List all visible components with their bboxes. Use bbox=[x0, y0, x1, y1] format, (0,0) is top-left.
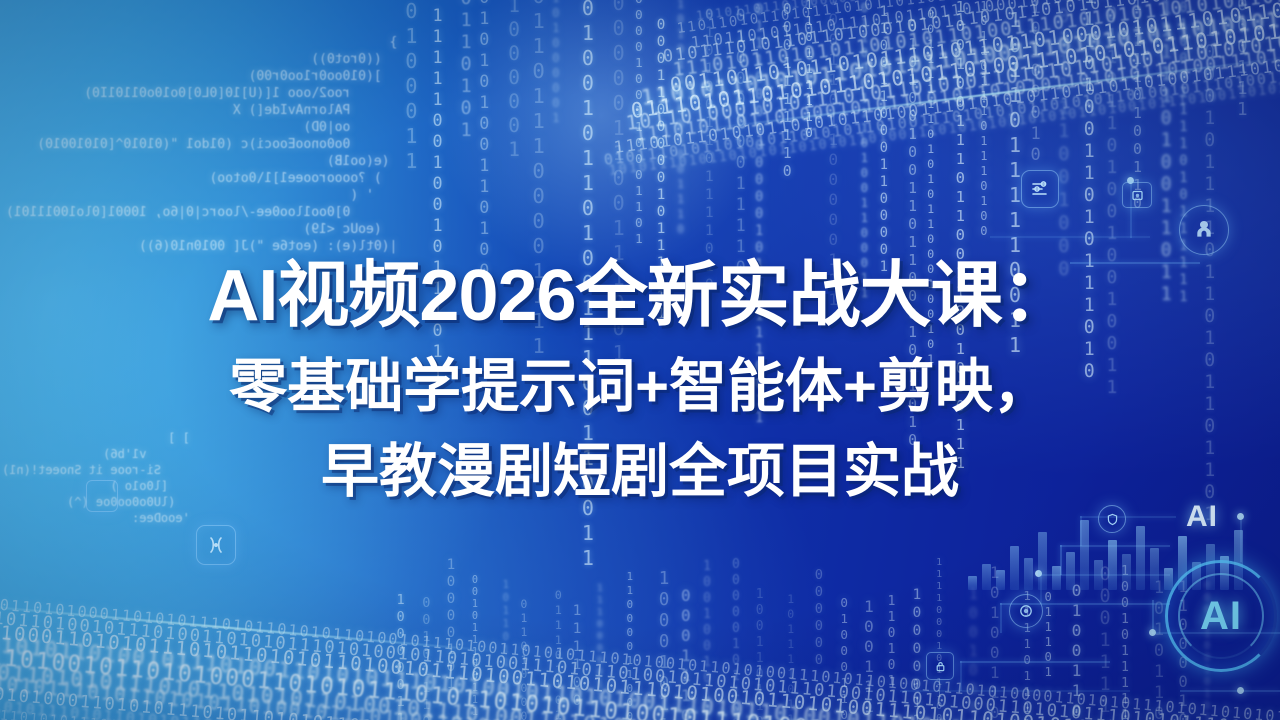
binary-rain-column: 0100011 bbox=[400, 0, 423, 174]
binary-rain-column: 01010100110100 bbox=[475, 0, 494, 281]
equalizer-bar bbox=[1094, 560, 1103, 590]
chip-icon bbox=[1122, 182, 1152, 208]
shield-node-icon bbox=[1098, 505, 1126, 533]
circuit-node bbox=[1149, 629, 1156, 636]
equalizer-bar bbox=[1108, 540, 1117, 590]
equalizer-bar bbox=[1066, 552, 1075, 590]
robot-assistant-icon bbox=[1179, 205, 1229, 255]
page-title: AI视频2026全新实战大课： bbox=[0, 253, 1280, 339]
equalizer-bar bbox=[1010, 546, 1019, 590]
equalizer-bar bbox=[1122, 554, 1131, 590]
circuit-trace bbox=[960, 661, 1110, 663]
equalizer-bar bbox=[1150, 548, 1159, 590]
network-node-icon bbox=[196, 525, 236, 565]
circuit-trace bbox=[960, 661, 962, 691]
poster-canvas: 0100011111110010010111011011010101010100… bbox=[0, 0, 1280, 720]
circuit-trace bbox=[1180, 690, 1280, 692]
circuit-node bbox=[1237, 687, 1244, 694]
circuit-trace bbox=[900, 690, 1130, 692]
equalizer-bar bbox=[982, 564, 991, 590]
circuit-trace bbox=[990, 236, 1150, 238]
equalizer-bar bbox=[1080, 520, 1089, 590]
equalizer-bar bbox=[996, 570, 1005, 590]
equalizer-bar bbox=[968, 576, 977, 590]
binary-rain-column: 0110101 bbox=[455, 0, 476, 142]
code-block-top-left: } ((0rot0)) ](010oo0r1oo0r00) roo2\ooo 1… bbox=[6, 34, 397, 255]
ai-ring-badge: AI bbox=[1165, 560, 1277, 672]
equalizer-bar bbox=[1136, 526, 1145, 590]
subtitle-line-2: 早教漫剧短剧全项目实战 bbox=[0, 437, 1280, 507]
equalizer-bar bbox=[1164, 568, 1173, 590]
ai-ring-label: AI bbox=[1200, 594, 1242, 639]
subtitle-line-1: 零基础学提示词+智能体+剪映， bbox=[0, 352, 1280, 422]
equalizer-bar bbox=[1052, 566, 1061, 590]
binary-rain-column: 101000001 bbox=[548, 0, 562, 126]
equalizer-bar bbox=[1024, 558, 1033, 590]
lock-node-icon bbox=[926, 652, 954, 680]
binary-rain-column: 000000 bbox=[811, 567, 826, 669]
equalizer-bar bbox=[1038, 532, 1047, 590]
settings-panel-icon bbox=[1021, 170, 1059, 208]
circuit-trace bbox=[1000, 603, 1002, 633]
fingerprint-node-icon bbox=[1009, 594, 1043, 628]
binary-rain-column: 1000001 bbox=[503, 0, 525, 162]
